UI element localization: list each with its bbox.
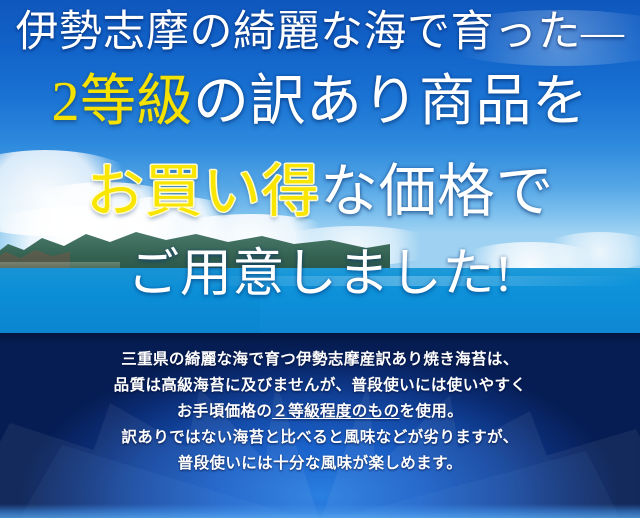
headline-line-3: お買い得な価格で bbox=[0, 163, 640, 221]
description-line-2: 品質は高級海苔に及びませんが、普段使いには使いやすく bbox=[0, 373, 640, 399]
headline-line-4: ご用意しました! bbox=[0, 249, 640, 301]
description-line-3-underlined: ２等級程度のもの bbox=[272, 403, 399, 420]
description-line-4: 訳ありではない海苔と比べると風味などが劣りますが、 bbox=[0, 425, 640, 451]
description-line-3: お手頃価格の２等級程度のものを使用。 bbox=[0, 399, 640, 425]
description-line-3-prefix: お手頃価格の bbox=[177, 403, 272, 420]
headline-line-2-rest: の訳あり商品を bbox=[193, 71, 589, 133]
promo-banner: 伊勢志摩の綺麗な海で育った― 2等級の訳あり商品を お買い得な価格で ご用意しま… bbox=[0, 0, 640, 518]
description-line-5: 普段使いには十分な風味が楽しめます。 bbox=[0, 451, 640, 477]
headline-line-1: 伊勢志摩の綺麗な海で育った― bbox=[0, 11, 640, 54]
description-line-3-suffix: を使用。 bbox=[400, 403, 464, 420]
headline-line-2-highlight: 2等級 bbox=[52, 71, 194, 133]
headline-line-3-highlight: お買い得 bbox=[86, 159, 320, 224]
description-panel: 三重県の綺麗な海で育つ伊勢志摩産訳あり焼き海苔は、 品質は高級海苔に及びませんが… bbox=[0, 333, 640, 518]
headline-line-3-rest: な価格で bbox=[320, 159, 554, 224]
seascape-photo-background: 伊勢志摩の綺麗な海で育った― 2等級の訳あり商品を お買い得な価格で ご用意しま… bbox=[0, 0, 640, 333]
description-line-1: 三重県の綺麗な海で育つ伊勢志摩産訳あり焼き海苔は、 bbox=[0, 347, 640, 373]
panel-bottom-glow bbox=[0, 504, 640, 518]
description-text-block: 三重県の綺麗な海で育つ伊勢志摩産訳あり焼き海苔は、 品質は高級海苔に及びませんが… bbox=[0, 347, 640, 477]
headline-line-2: 2等級の訳あり商品を bbox=[0, 74, 640, 130]
